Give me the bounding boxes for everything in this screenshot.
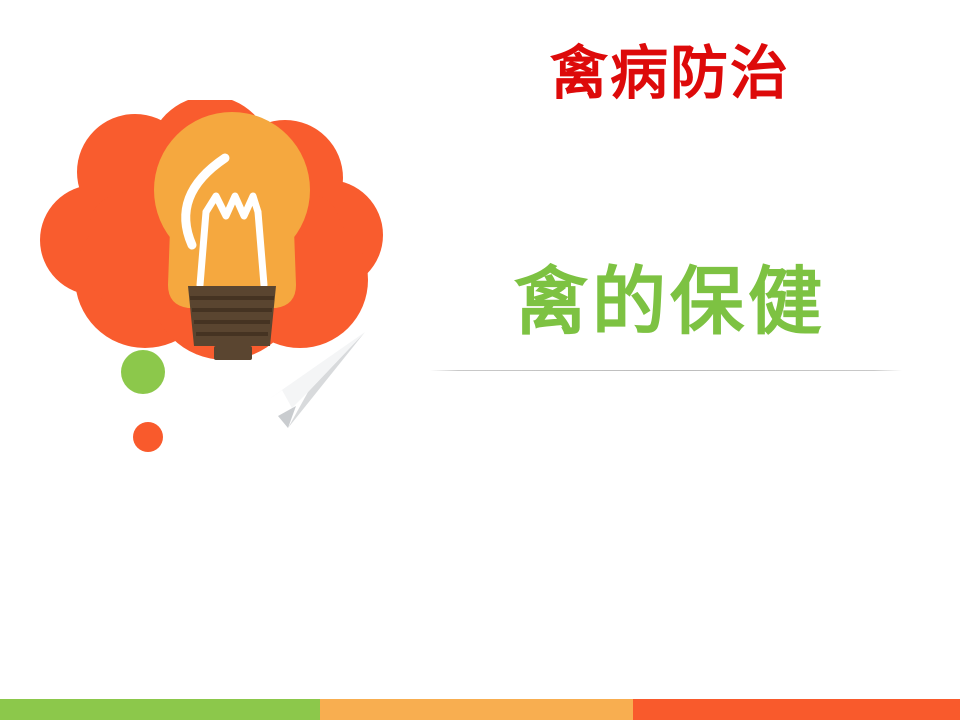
bubble-dot-large: [121, 350, 165, 394]
paper-airplane-icon: [268, 332, 365, 428]
idea-lightbulb-illustration: [20, 100, 420, 570]
footer-band-segment-orange: [320, 699, 633, 720]
bubble-dot-small: [133, 422, 163, 452]
divider: [430, 370, 902, 371]
page-title: 禽病防治: [430, 42, 910, 106]
presentation-slide: 禽病防治 禽的保健: [0, 0, 960, 720]
page-subtitle: 禽的保健: [430, 262, 910, 343]
footer-color-band: [0, 699, 960, 720]
footer-band-segment-green: [0, 699, 320, 720]
footer-band-segment-red: [633, 699, 960, 720]
